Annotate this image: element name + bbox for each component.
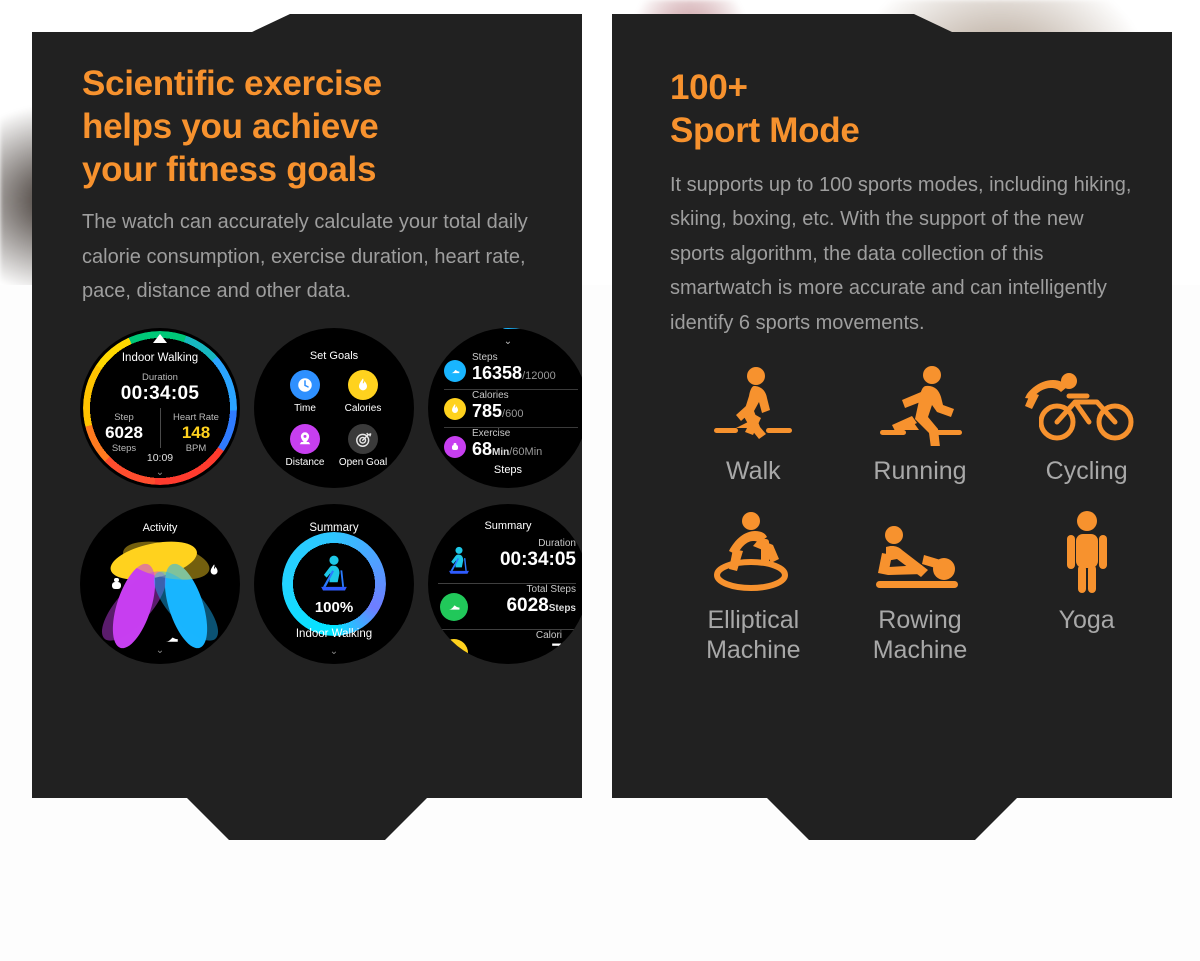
target-icon: [348, 424, 378, 454]
sport-item-elliptical-machine[interactable]: Elliptical Machine: [670, 509, 837, 666]
chevron-down-icon[interactable]: ⌄: [80, 645, 240, 656]
stat-target: /600: [502, 408, 523, 420]
summary-unit: Steps: [549, 603, 576, 614]
chevron-down-icon[interactable]: ⌄: [428, 336, 588, 347]
sport-label: Walk: [726, 456, 781, 487]
step-label: Step: [88, 412, 160, 423]
cyclist-icon: [1039, 360, 1135, 446]
standing-person-icon: [1058, 509, 1116, 595]
scientific-exercise-card: Scientific exercise helps you achieve yo…: [32, 14, 582, 840]
goal-label: Distance: [276, 457, 334, 468]
sport-label: Cycling: [1046, 456, 1128, 487]
sport-label: Elliptical Machine: [706, 605, 801, 666]
sport-mode-grid: Walk Running: [670, 360, 1170, 666]
running-person-icon: [874, 360, 966, 446]
stat-unit: Min: [492, 447, 509, 458]
stat-target: /60: [509, 446, 524, 458]
stat-label: Calories: [472, 390, 578, 401]
watch-title: Indoor Walking: [80, 352, 240, 364]
left-body-text: The watch can accurately calculate your …: [82, 205, 532, 308]
stat-row: Steps 16358/12000: [444, 352, 578, 390]
shoe-icon: [166, 638, 178, 642]
fist-icon: [112, 582, 121, 589]
flame-icon: [440, 639, 468, 664]
percent-value: 100%: [254, 590, 414, 619]
sport-item-walk[interactable]: Walk: [670, 360, 837, 487]
stat-target-unit: Min: [525, 446, 543, 458]
summary-row: Duration 00:34:05: [438, 538, 576, 584]
rowing-machine-icon: [872, 509, 968, 595]
stat-label: Steps: [472, 352, 578, 363]
watch-face-summary-percent: Summary 100% Indoor Walking ⌄: [254, 504, 414, 664]
flame-icon: [211, 565, 218, 575]
heart-rate-value: 148: [160, 423, 232, 443]
sport-item-rowing-machine[interactable]: Rowing Machine: [837, 509, 1004, 666]
treadmill-icon: [442, 544, 476, 578]
stat-value: 68: [472, 439, 492, 459]
duration-value: 00:34:05: [80, 383, 240, 405]
sport-item-cycling[interactable]: Cycling: [1003, 360, 1170, 487]
fist-icon: [444, 436, 466, 458]
elliptical-machine-icon: [707, 509, 799, 595]
stat-target: /12000: [522, 370, 556, 382]
summary-row: Calori 7: [438, 630, 576, 664]
flame-icon: [348, 370, 378, 400]
watch-title: Set Goals: [254, 350, 414, 362]
goal-item-open-goal[interactable]: Open Goal: [334, 424, 392, 468]
sport-mode-card: 100+ Sport Mode It supports up to 100 sp…: [612, 14, 1172, 840]
percent-symbol: %: [340, 599, 353, 616]
shoe-icon: [444, 360, 466, 382]
goal-item-time[interactable]: Time: [276, 370, 334, 414]
step-value: 6028: [88, 423, 160, 443]
sport-label: Running: [873, 456, 966, 487]
clock-icon: [290, 370, 320, 400]
watch-footer: Indoor Walking: [254, 628, 414, 640]
watch-face-set-goals: Set Goals Time Calories: [254, 328, 414, 488]
sport-item-yoga[interactable]: Yoga: [1003, 509, 1170, 666]
goal-item-calories[interactable]: Calories: [334, 370, 392, 414]
summary-row: Total Steps 6028Steps: [438, 584, 576, 630]
location-icon: [290, 424, 320, 454]
stat-value: 16358: [472, 363, 522, 383]
chevron-down-icon[interactable]: ⌄: [254, 646, 414, 657]
arc-segment-purple: [472, 328, 494, 329]
goal-label: Calories: [334, 403, 392, 414]
stat-row: Exercise 68Min/60Min: [444, 428, 578, 466]
goal-label: Time: [276, 403, 334, 414]
watch-face-summary-detail: Summary Duration 00:34:05: [428, 504, 588, 664]
flame-icon: [444, 398, 466, 420]
stat-row: Calories 785/600: [444, 390, 578, 428]
arc-segment-blue: [502, 328, 528, 329]
watch-face-daily-stats: ⌄ Steps 16358/12000: [428, 328, 588, 488]
watch-clock: 10:09: [80, 452, 240, 464]
watch-title: Summary: [428, 520, 588, 532]
goal-item-distance[interactable]: Distance: [276, 424, 334, 468]
summary-value: 6028: [506, 595, 548, 616]
heart-rate-label: Heart Rate: [160, 412, 232, 423]
stat-value: 785: [472, 401, 502, 421]
sport-label: Yoga: [1059, 605, 1115, 636]
watch-footer: Steps: [428, 464, 588, 476]
right-headline: 100+ Sport Mode: [670, 66, 1172, 152]
right-body-text: It supports up to 100 sports modes, incl…: [670, 168, 1172, 340]
watch-face-grid: Indoor Walking Duration 00:34:05 Step 60…: [80, 328, 532, 664]
stat-label: Exercise: [472, 428, 578, 439]
sport-item-running[interactable]: Running: [837, 360, 1004, 487]
watch-face-indoor-walking: Indoor Walking Duration 00:34:05 Step 60…: [80, 328, 240, 488]
walking-person-icon: [710, 360, 796, 446]
activity-petals: [80, 504, 240, 664]
ring-marker-icon: [153, 334, 167, 343]
sport-label: Rowing Machine: [873, 605, 968, 666]
watch-face-activity: Activity ⌄: [80, 504, 240, 664]
duration-label: Duration: [80, 372, 240, 383]
chevron-down-icon[interactable]: ⌄: [80, 467, 240, 478]
left-headline: Scientific exercise helps you achieve yo…: [82, 62, 532, 191]
goal-label: Open Goal: [334, 457, 392, 468]
